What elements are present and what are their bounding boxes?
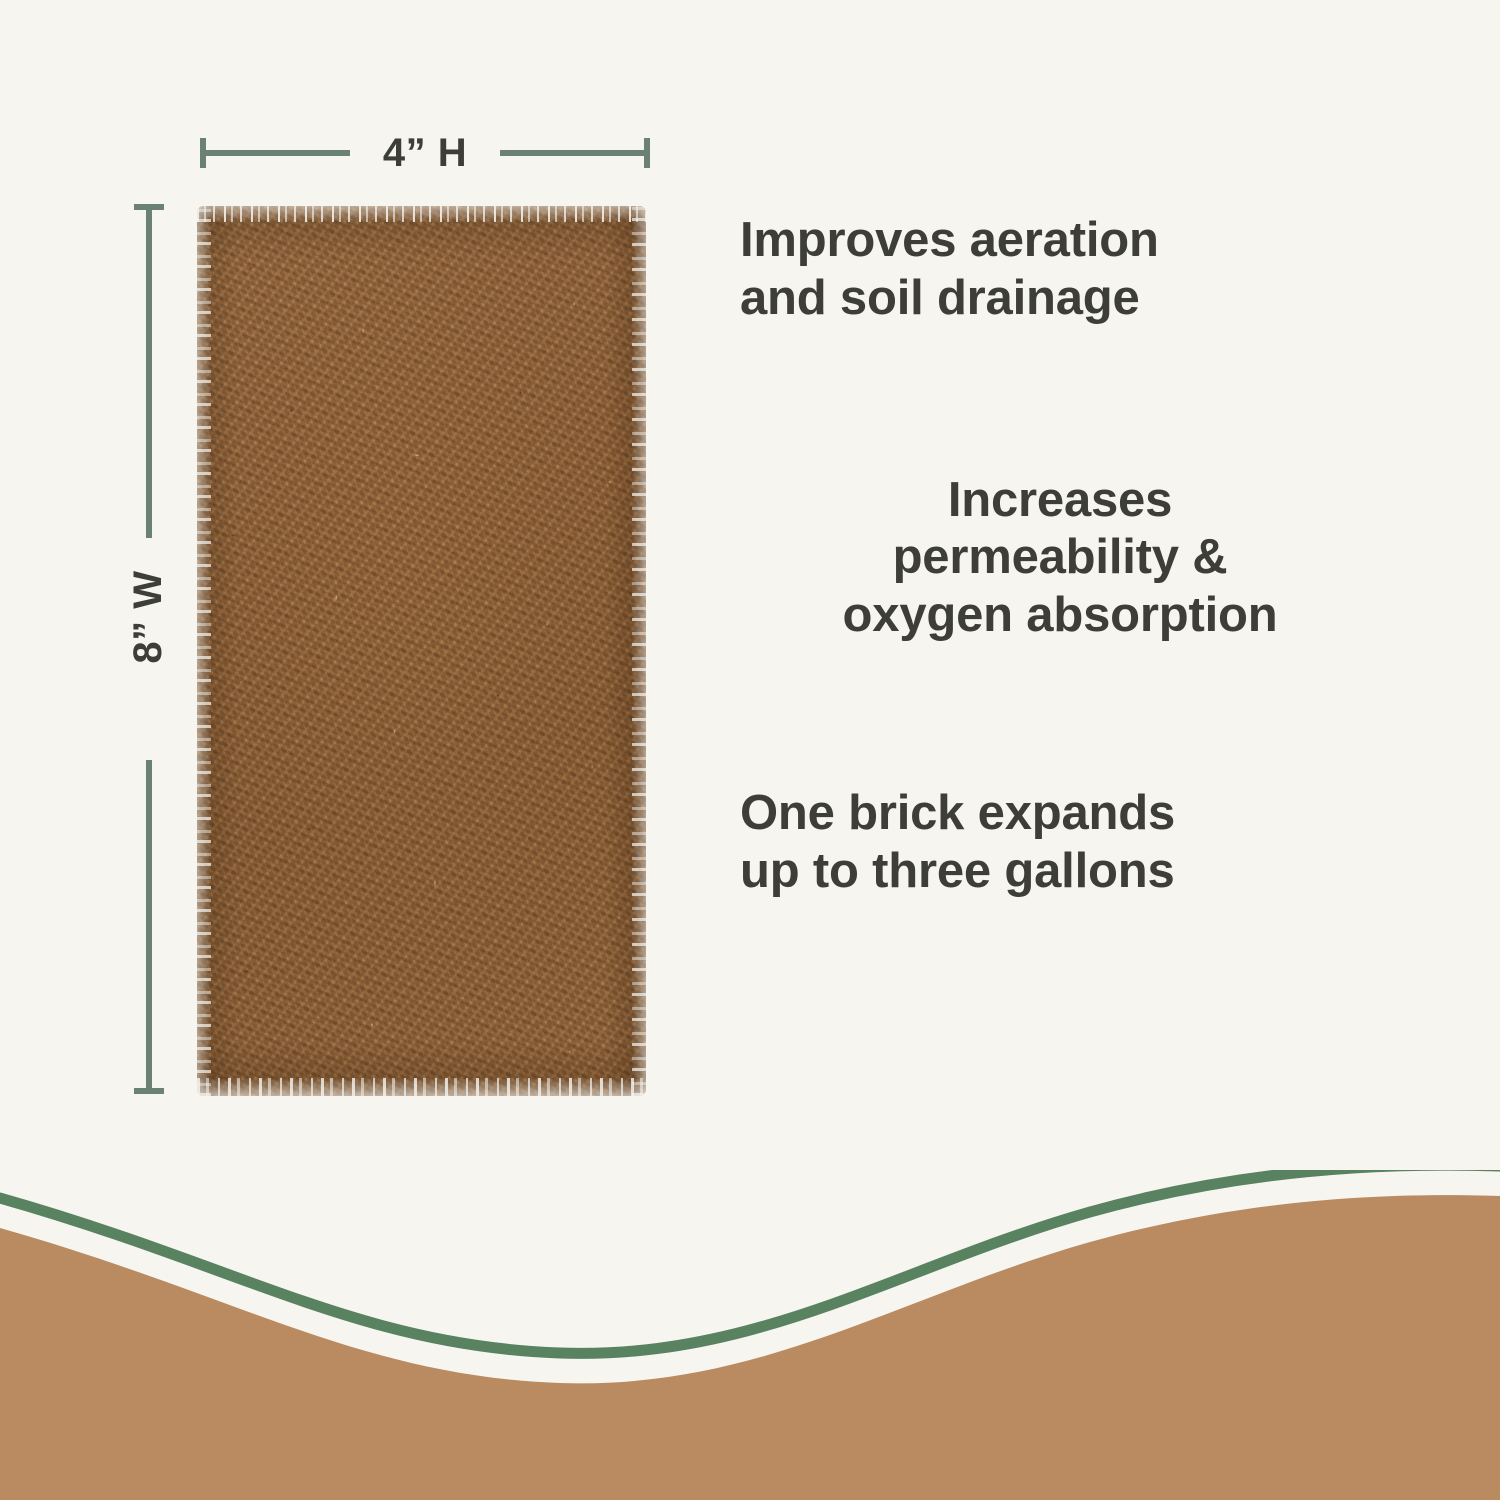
benefit-line: permeability &: [740, 529, 1380, 587]
top-dimension-right-rule: [500, 150, 646, 156]
benefit-item-aeration: Improves aeration and soil drainage: [740, 212, 1380, 328]
left-dimension-bottom-cap: [134, 1088, 164, 1094]
benefit-line: and soil drainage: [740, 270, 1380, 328]
top-dimension-annotation: 4” H: [200, 128, 650, 178]
wave-fill-shape: [0, 1195, 1500, 1500]
left-dimension-upper-rule: [146, 208, 152, 538]
top-dimension-right-cap: [644, 138, 650, 168]
benefit-item-expansion: One brick expands up to three gallons: [740, 785, 1380, 901]
left-dimension-label: 8” W: [125, 517, 171, 717]
left-dimension-annotation: 8” W: [126, 204, 172, 1094]
benefit-line: up to three gallons: [740, 843, 1380, 901]
top-dimension-label: 4” H: [355, 128, 495, 178]
top-dimension-left-rule: [204, 150, 350, 156]
benefit-line: One brick expands: [740, 785, 1380, 843]
bottom-wave-decoration: [0, 1170, 1500, 1500]
brick-fiber-edge-right: [632, 206, 646, 1096]
coco-coir-brick-image: [197, 206, 646, 1096]
brick-fiber-edge-left: [197, 206, 211, 1096]
benefit-item-permeability: Increases permeability & oxygen absorpti…: [740, 472, 1380, 645]
brick-fiber-edge-top: [197, 206, 646, 222]
benefit-line: oxygen absorption: [740, 587, 1380, 645]
benefit-line: Improves aeration: [740, 212, 1380, 270]
benefit-list: Improves aeration and soil drainage Incr…: [740, 190, 1380, 901]
benefit-line: Increases: [740, 472, 1380, 530]
product-infographic: 4” H 8” W Improves aeration and soil dra…: [0, 0, 1500, 1500]
left-dimension-lower-rule: [146, 760, 152, 1090]
brick-fiber-edge-bottom: [197, 1078, 646, 1096]
brick-edge-shading: [197, 206, 646, 1096]
